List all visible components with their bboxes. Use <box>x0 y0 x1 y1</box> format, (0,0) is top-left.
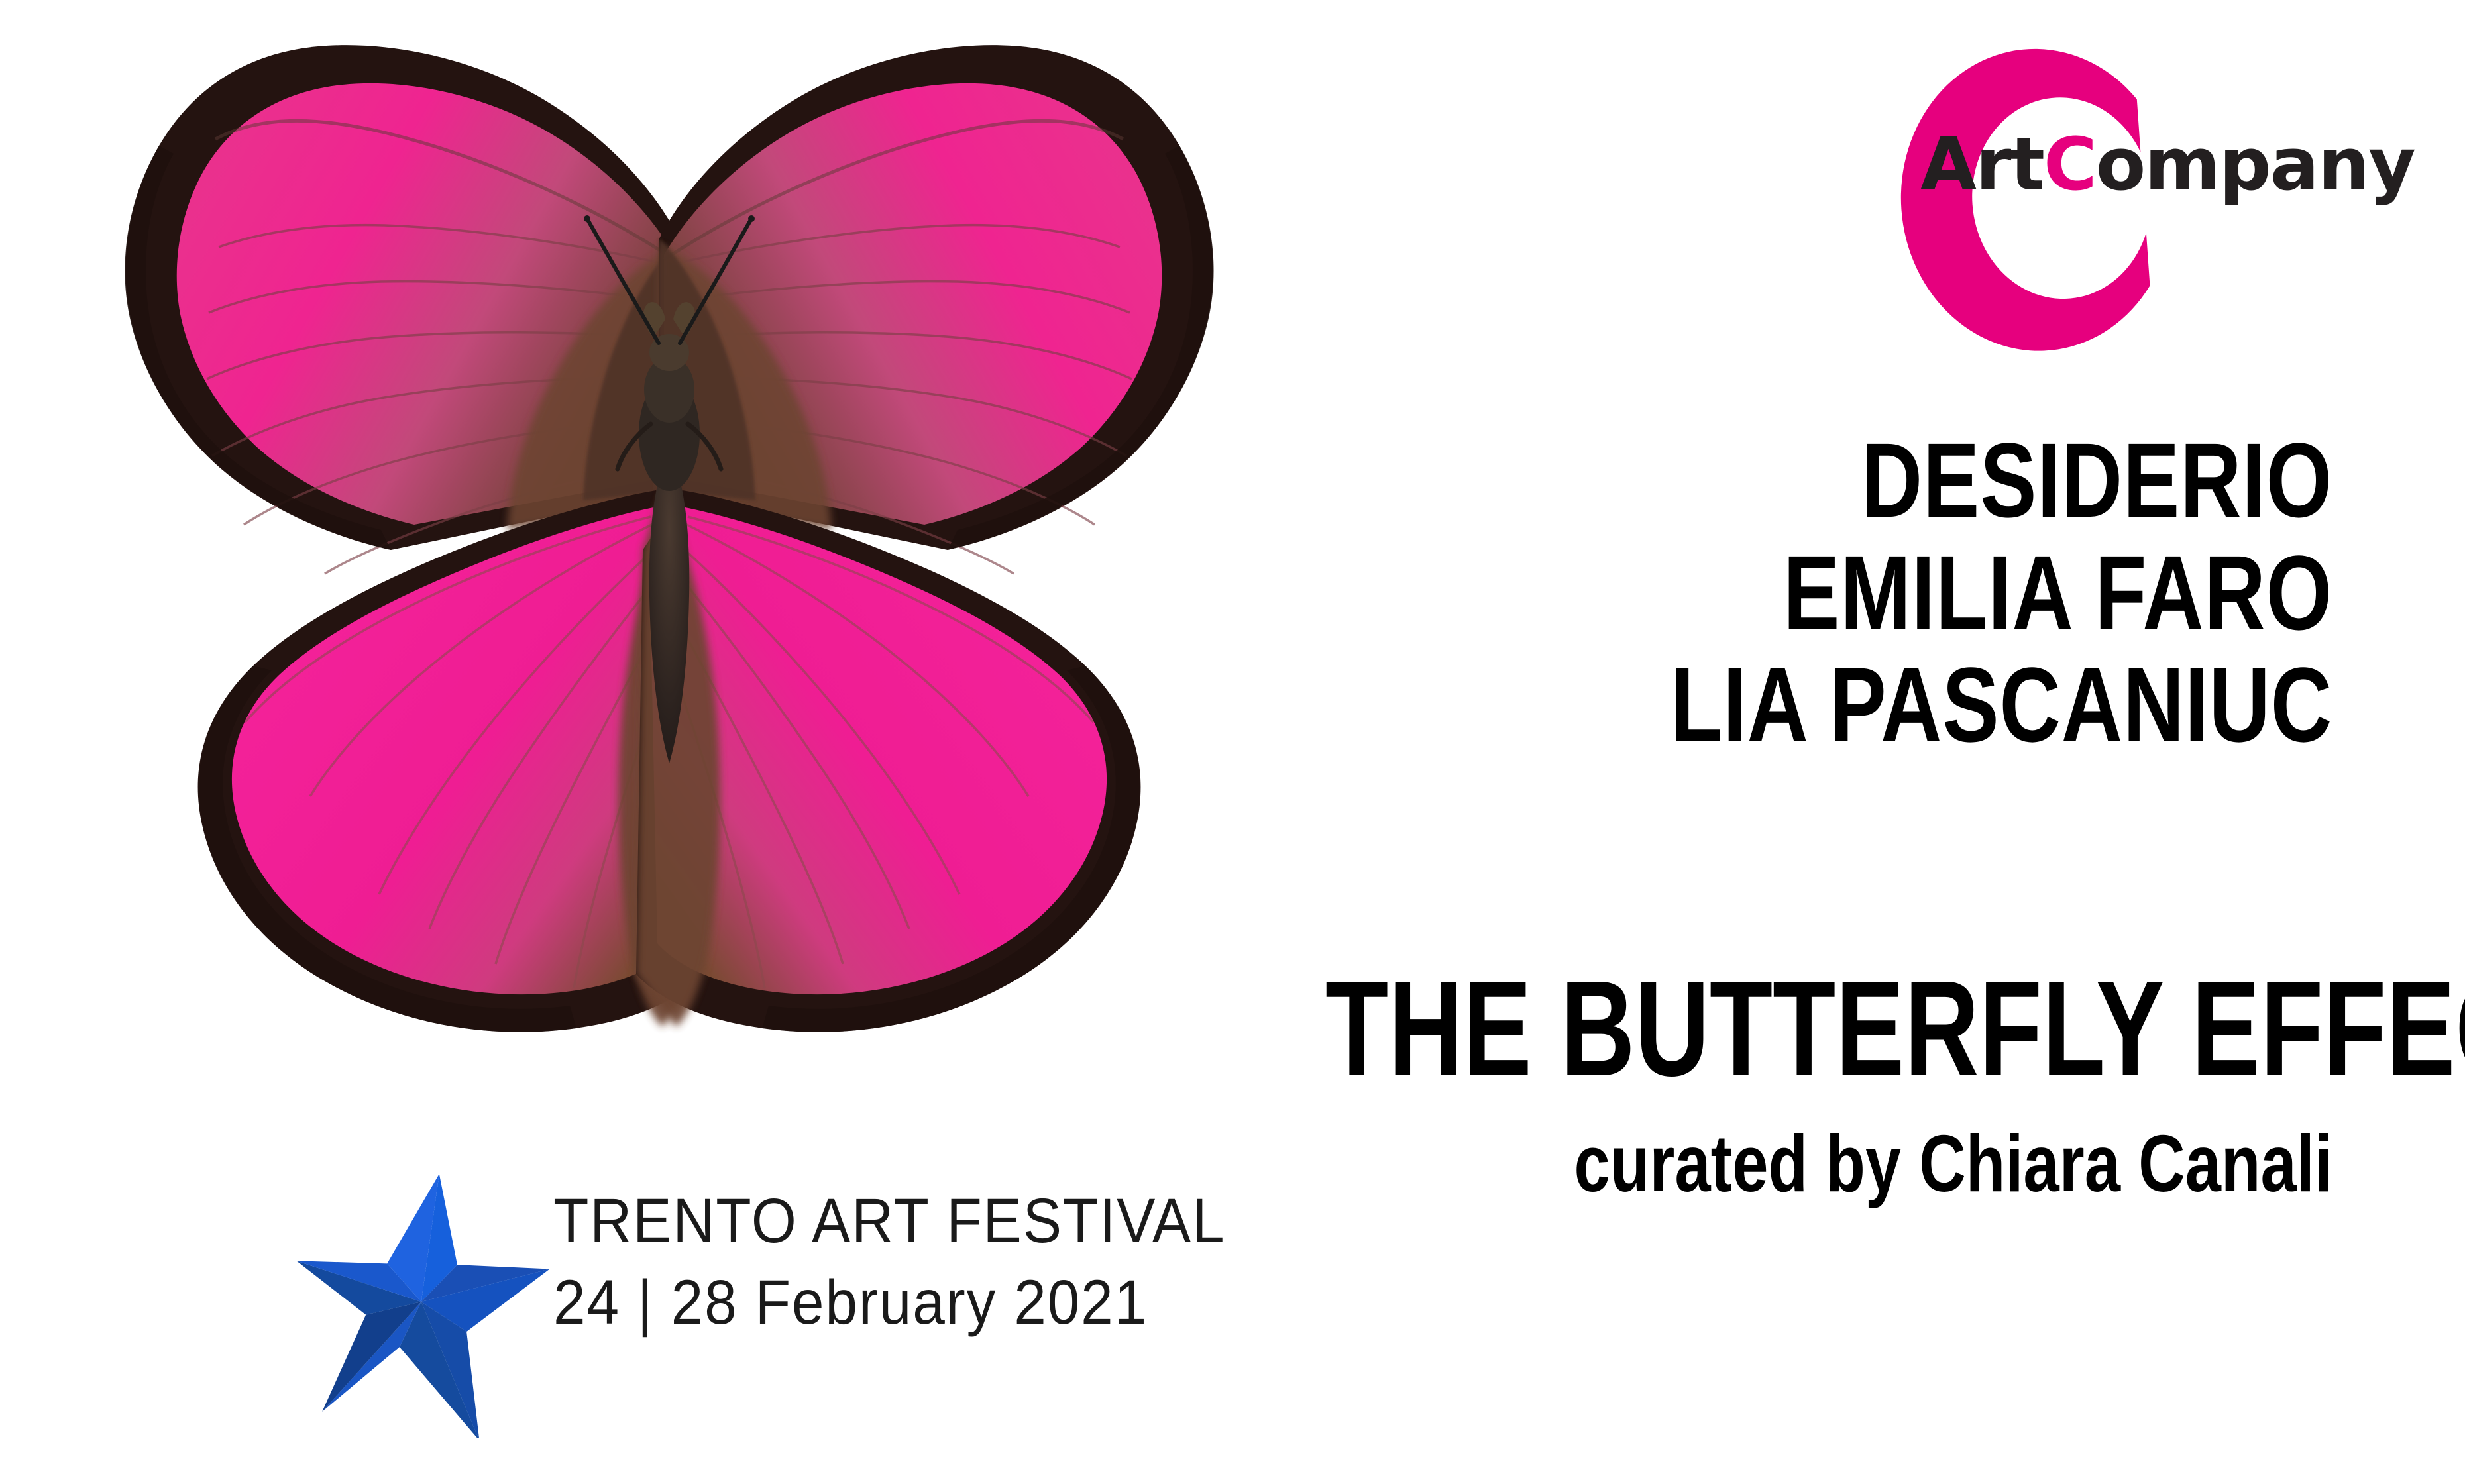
curator-credit: curated by Chiara Canali <box>1272 1123 2332 1204</box>
butterfly-artwork <box>80 26 1259 1113</box>
butterfly-right-hindwing <box>636 490 1140 1032</box>
logo-text-art: Art <box>1920 122 2044 207</box>
artist-name-list: DESIDERIO EMILIA FARO LIA PASCANIUC <box>1272 424 2332 761</box>
butterfly-left-forewing <box>125 45 679 574</box>
artist-name: LIA PASCANIUC <box>1484 649 2332 761</box>
artist-name: EMILIA FARO <box>1484 537 2332 649</box>
festival-lockup: TRENTO ART FESTIVAL 24 | 28 February 202… <box>292 1166 1252 1444</box>
artcompany-logo: ArtCompany <box>1889 41 2352 372</box>
logo-text-c-accent: C <box>2044 122 2096 207</box>
festival-name: TRENTO ART FESTIVAL <box>553 1190 1225 1253</box>
butterfly-right-forewing <box>659 45 1214 574</box>
artist-name: DESIDERIO <box>1484 424 2332 537</box>
festival-text-block: TRENTO ART FESTIVAL 24 | 28 February 202… <box>553 1190 1284 1334</box>
artcompany-wordmark: ArtCompany <box>1920 125 2415 204</box>
festival-dates: 24 | 28 February 2021 <box>553 1271 1225 1334</box>
butterfly-left-hindwing <box>198 490 702 1032</box>
five-point-star-icon <box>292 1173 550 1438</box>
exhibition-title: THE BUTTERFLY EFFECT <box>1325 961 2332 1096</box>
logo-text-ompany: ompany <box>2096 122 2415 207</box>
